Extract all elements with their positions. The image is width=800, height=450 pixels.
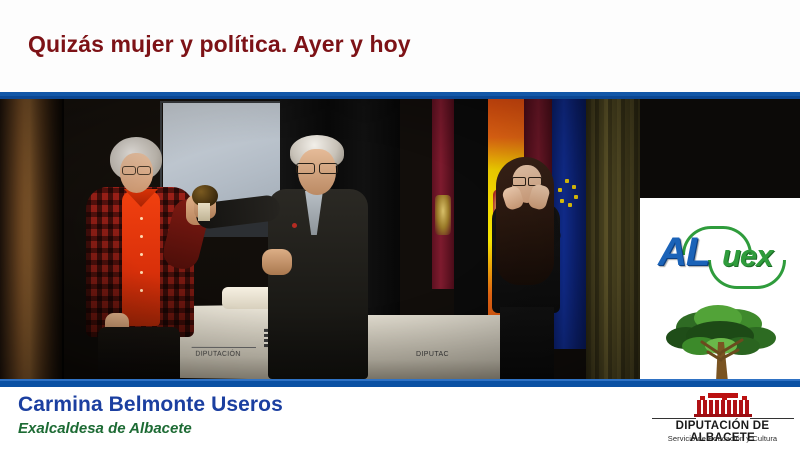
building-icon <box>694 393 752 417</box>
diputacion-logo: DIPUTACIÓN DE ALBACETE Servicio de Educa… <box>650 389 795 447</box>
speaker-name: Carmina Belmonte Useros <box>18 393 283 417</box>
logo-rule-right <box>750 418 794 419</box>
footer-bar: Carmina Belmonte Useros Exalcaldesa de A… <box>0 387 800 450</box>
header-bar: Quizás mujer y política. Ayer y hoy <box>0 0 800 92</box>
speaker-role: Exalcaldesa de Albacete <box>18 420 192 437</box>
aluex-logo-uex: uex <box>722 238 772 274</box>
aluex-logo: AL uex <box>640 226 800 288</box>
branding-panel: AL uex Curso <box>640 198 800 379</box>
slide-root: Quizás mujer y política. Ayer y hoy <box>0 0 800 450</box>
institution-department: Servicio de Educación y Cultura <box>650 434 795 443</box>
building-base <box>694 414 752 417</box>
aluex-logo-al: AL <box>658 230 709 275</box>
conference-photo: DIPUTAC DIPUTACIÓN <box>0 99 640 379</box>
divider-bottom-highlight <box>0 379 800 381</box>
tree-icon <box>662 298 780 379</box>
content-strip: DIPUTAC DIPUTACIÓN <box>0 99 800 379</box>
page-title: Quizás mujer y política. Ayer y hoy <box>28 31 411 58</box>
building-facade <box>697 400 749 415</box>
photo-vignette <box>0 99 640 379</box>
building-roof <box>708 393 738 398</box>
logo-rule-left <box>652 418 696 419</box>
